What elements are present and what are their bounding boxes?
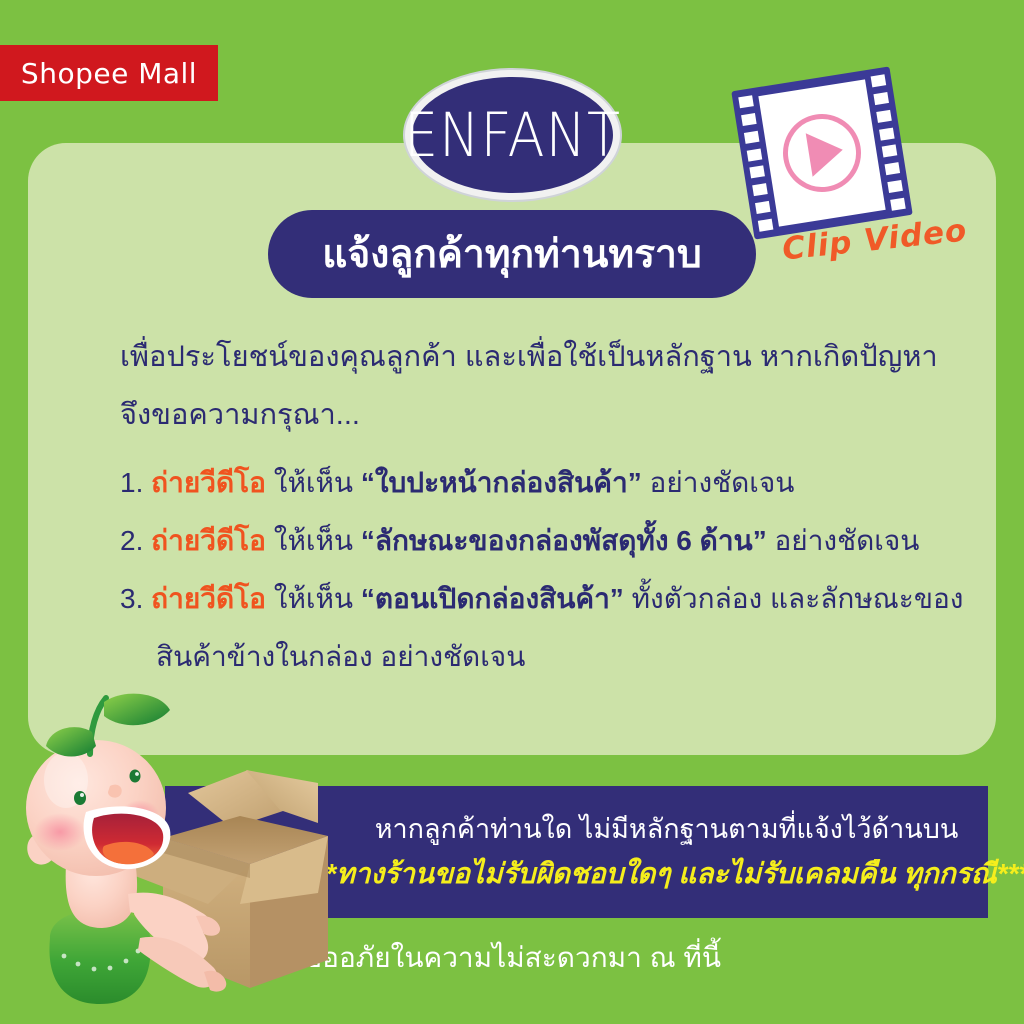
- enfant-wordmark: ENFANT: [404, 100, 621, 171]
- film-strip-play-icon: [731, 66, 912, 239]
- list-item-tail: อย่างชัดเจน: [774, 525, 919, 556]
- list-item-number: 1.: [120, 467, 143, 498]
- list-item-quote: “ลักษณะของกล่องพัสดุทั้ง 6 ด้าน”: [361, 525, 767, 556]
- list-item-number: 2.: [120, 525, 143, 556]
- list-item-connector: ให้เห็น: [274, 467, 353, 498]
- list-item-connector: ให้เห็น: [274, 583, 353, 614]
- list-item-tail: ทั้งตัวกล่อง และลักษณะของ: [632, 583, 964, 614]
- disclaimer-line-2: ***ทางร้านขอไม่รับผิดชอบใดๆ และไม่รับเคล…: [304, 851, 1024, 897]
- enfant-logo: ENFANT: [405, 70, 620, 200]
- intro-line-1: เพื่อประโยชน์ของคุณลูกค้า และเพื่อใช้เป็…: [120, 328, 980, 386]
- shopee-mall-badge: Shopee Mall: [0, 45, 218, 101]
- announcement-title-pill: แจ้งลูกค้าทุกท่านทราบ: [268, 210, 756, 298]
- list-item-tail: อย่างชัดเจน: [650, 467, 795, 498]
- shopee-mall-label: Shopee Mall: [21, 57, 197, 90]
- list-item-action: ถ่ายวีดีโอ: [151, 525, 266, 556]
- disclaimer-line-1: หากลูกค้าท่านใด ไม่มีหลักฐานตามที่แจ้งไว…: [375, 807, 959, 851]
- announcement-body: เพื่อประโยชน์ของคุณลูกค้า และเพื่อใช้เป็…: [120, 328, 980, 686]
- list-item-action: ถ่ายวีดีโอ: [151, 583, 266, 614]
- list-item-connector: ให้เห็น: [274, 525, 353, 556]
- list-item-tail-2: สินค้าข้างในกล่อง อย่างชัดเจน: [120, 628, 980, 686]
- poster-canvas: Shopee Mall ENFANT Clip Video: [0, 0, 1024, 1024]
- intro-line-2: จึงขอความกรุณา...: [120, 386, 980, 444]
- list-item: 3. ถ่ายวีดีโอ ให้เห็น “ตอนเปิดกล่องสินค้…: [120, 570, 980, 686]
- instruction-list: 1. ถ่ายวีดีโอ ให้เห็น “ใบปะหน้ากล่องสินค…: [120, 454, 980, 686]
- list-item-quote: “ตอนเปิดกล่องสินค้า”: [361, 583, 624, 614]
- list-item: 2. ถ่ายวีดีโอ ให้เห็น “ลักษณะของกล่องพัส…: [120, 512, 980, 570]
- list-item-action: ถ่ายวีดีโอ: [151, 467, 266, 498]
- baby-with-open-box-illustration: [18, 688, 378, 1024]
- list-item: 1. ถ่ายวีดีโอ ให้เห็น “ใบปะหน้ากล่องสินค…: [120, 454, 980, 512]
- list-item-number: 3.: [120, 583, 143, 614]
- page-title: แจ้งลูกค้าทุกท่านทราบ: [322, 223, 701, 285]
- list-item-quote: “ใบปะหน้ากล่องสินค้า”: [361, 467, 642, 498]
